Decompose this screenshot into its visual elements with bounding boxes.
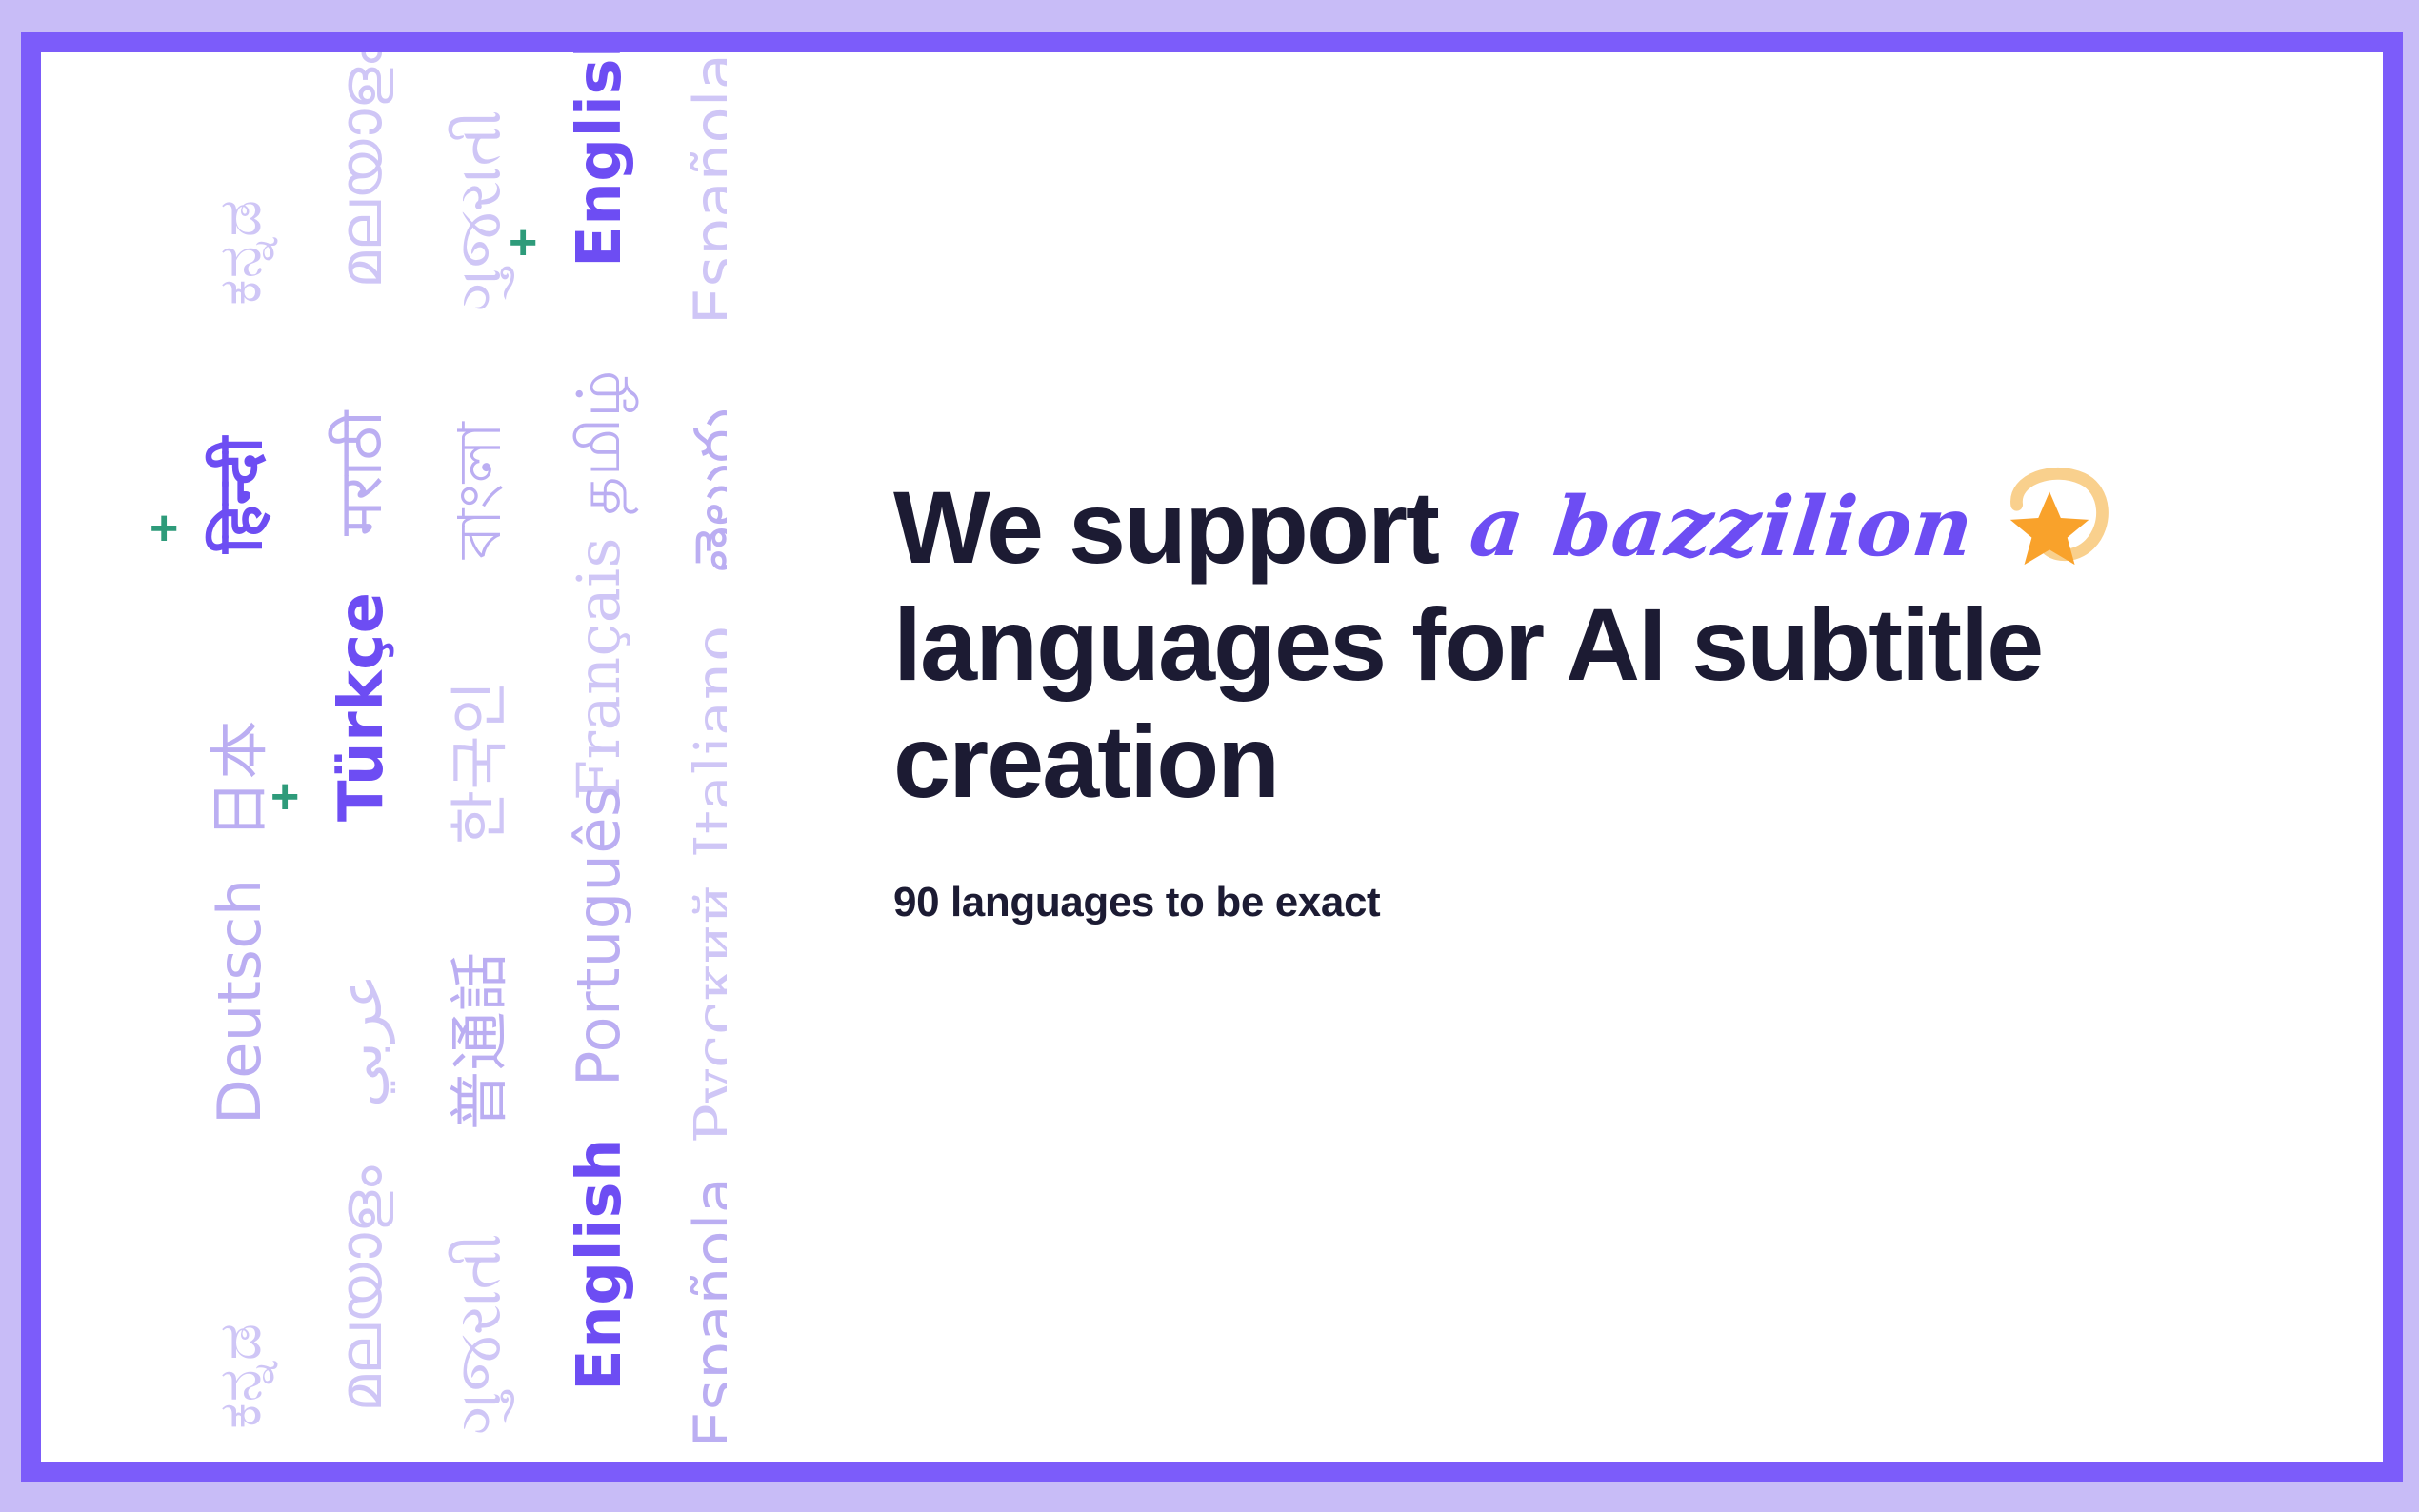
language-label-german: Deutsch — [210, 878, 270, 1124]
headline-line-3: creation — [893, 703, 2383, 820]
language-label-kannada: ಕನ್ನಡ — [210, 199, 270, 306]
language-label-bengali: বাংলা — [450, 422, 510, 559]
language-cloud: ಕನ್ನಡहिन्दी+日本Deutschಕನ್ನಡമലയാളംमराठीTür… — [41, 52, 727, 1462]
language-label-malayalam: മലയാളം — [331, 52, 390, 288]
language-label-kannada: ಕನ್ನಡ — [210, 1323, 270, 1429]
language-label-korean: 한국인 — [450, 680, 510, 845]
language-label-french: Français — [570, 537, 629, 801]
language-label-telugu: తెలుగు — [687, 408, 727, 572]
add-language-plus-icon[interactable]: + — [150, 504, 178, 553]
headline-line-2-text: languages for AI subtitle — [893, 586, 2042, 703]
headline-script-accent: a bazzilion — [1466, 481, 1978, 574]
language-label-malayalam: മലയാളം — [331, 1165, 390, 1412]
language-label-spanish: Española — [687, 53, 727, 325]
language-label-russian: Русский — [687, 884, 727, 1144]
headline-line-1: We support a bazzilion — [893, 468, 2383, 586]
headline-prefix: We support — [893, 468, 1438, 586]
language-label-portuguese: Português — [570, 786, 629, 1086]
subtitle: 90 languages to be exact — [893, 879, 2383, 926]
language-label-mandarin: 普通話 — [450, 951, 510, 1130]
hero-copy: We support a bazzilion languages for AI … — [893, 468, 2383, 926]
page-title: We support a bazzilion languages for AI … — [893, 468, 2383, 820]
language-label-spanish: Española — [687, 1177, 727, 1448]
language-label-english: English — [570, 52, 630, 268]
language-label-gujarati: ગુજરાતી — [450, 1233, 510, 1435]
add-language-plus-icon[interactable]: + — [509, 218, 537, 268]
language-label-italian: Italiano — [687, 626, 727, 858]
bordered-frame: ಕನ್ನಡहिन्दी+日本Deutschಕನ್ನಡമലയാളംमराठीTür… — [21, 32, 2403, 1482]
language-label-english: English — [570, 1138, 630, 1391]
language-label-hindi: हिन्दी — [210, 437, 271, 553]
headline-line-2: languages for AI subtitle — [893, 586, 2383, 703]
star-swoosh-icon — [1996, 464, 2109, 568]
language-label-turkish: Türkçe — [331, 591, 392, 822]
language-label-marathi: मराठी — [331, 410, 390, 536]
add-language-plus-icon[interactable]: + — [270, 772, 299, 822]
language-label-japanese: 日本 — [210, 720, 270, 839]
language-label-arabic: عربي — [331, 974, 390, 1107]
language-label-tamil: தமிழ் — [570, 369, 629, 515]
language-label-gujarati: ગુજરાતી — [450, 109, 510, 311]
headline-line-3-text: creation — [893, 703, 1278, 820]
slide-canvas: ಕನ್ನಡहिन्दी+日本Deutschಕನ್ನಡമലയാളംमराठीTür… — [41, 52, 2383, 1462]
